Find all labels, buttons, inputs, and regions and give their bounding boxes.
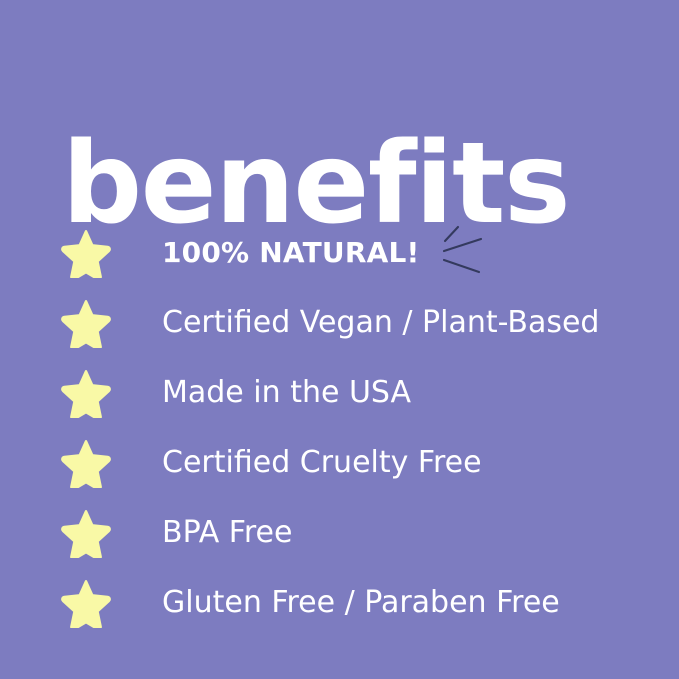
list-item-label: Gluten Free / Paraben Free [162, 586, 560, 620]
star-icon [61, 578, 111, 628]
list-item: Made in the USA [0, 358, 679, 428]
list-item-label: Made in the USA [162, 376, 411, 410]
list-item-label: BPA Free [162, 516, 292, 550]
list-item: Certified Cruelty Free [0, 428, 679, 498]
list-item: BPA Free [0, 498, 679, 568]
emphasis-lines-icon [441, 225, 491, 281]
list-item: Certified Vegan / Plant-Based [0, 288, 679, 358]
list-item-label: Certified Vegan / Plant-Based [162, 306, 599, 340]
star-icon [61, 298, 111, 348]
star-icon [61, 368, 111, 418]
list-item: 100% NATURAL! [0, 218, 679, 288]
star-icon [61, 508, 111, 558]
star-icon [61, 438, 111, 488]
list-item-label: Certified Cruelty Free [162, 446, 482, 480]
benefits-card: benefits 100% NATURAL! [0, 0, 679, 679]
star-icon [61, 228, 111, 278]
benefits-list: 100% NATURAL! Certified Vegan / Plant-Ba… [0, 218, 679, 638]
list-item-label: 100% NATURAL! [162, 236, 419, 270]
list-item: Gluten Free / Paraben Free [0, 568, 679, 638]
